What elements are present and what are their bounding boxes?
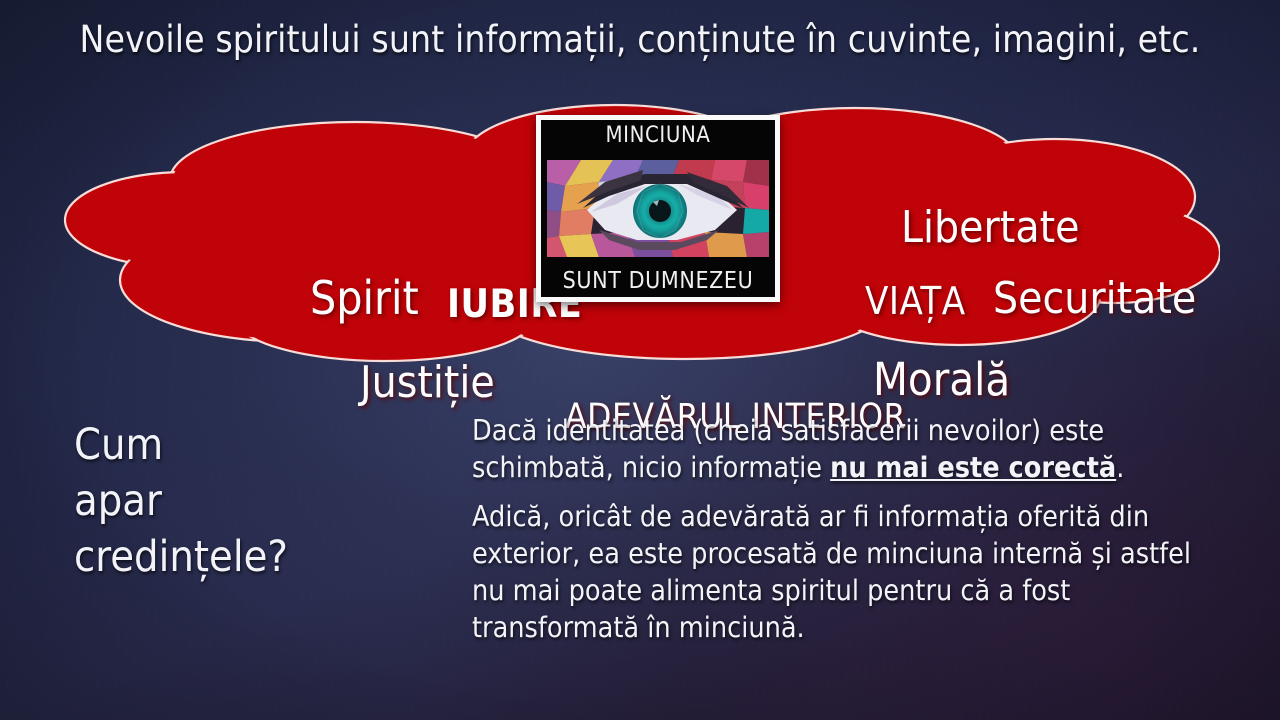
eye-card-bottom-caption: SUNT DUMNEZEU (541, 267, 775, 295)
cloud-word-securitate: Securitate (993, 273, 1196, 324)
cloud-word-libertate: Libertate (901, 202, 1079, 253)
paragraph-1-emphasis: nu mai este corectă (830, 451, 1116, 484)
cloud-word-viata: VIAȚA (865, 279, 966, 323)
body-paragraph-1: Dacă identitatea (cheia satisfacerii nev… (472, 412, 1202, 486)
question-line-3: credințele? (74, 529, 414, 585)
eye-card-top-caption: MINCIUNA (541, 122, 775, 150)
cloud-word-justitie: Justiție (360, 357, 495, 408)
body-paragraph-2: Adică, oricât de adevărată ar fi informa… (472, 498, 1202, 646)
question-line-2: apar (74, 473, 414, 529)
cloud-word-spirit: Spirit (310, 271, 419, 325)
paragraph-1-tail: . (1116, 451, 1124, 484)
question-heading: Cum apar credințele? (74, 417, 414, 585)
eye-image-card: MINCIUNA (536, 115, 780, 302)
eye-card-panel: MINCIUNA (541, 120, 775, 297)
body-text-block: Dacă identitatea (cheia satisfacerii nev… (472, 412, 1202, 658)
slide-title: Nevoile spiritului sunt informații, conț… (0, 18, 1280, 61)
mosaic-eye-graphic (547, 160, 769, 257)
question-line-1: Cum (74, 417, 414, 473)
slide-canvas: Nevoile spiritului sunt informații, conț… (0, 0, 1280, 720)
mosaic-eye-image (547, 160, 769, 257)
